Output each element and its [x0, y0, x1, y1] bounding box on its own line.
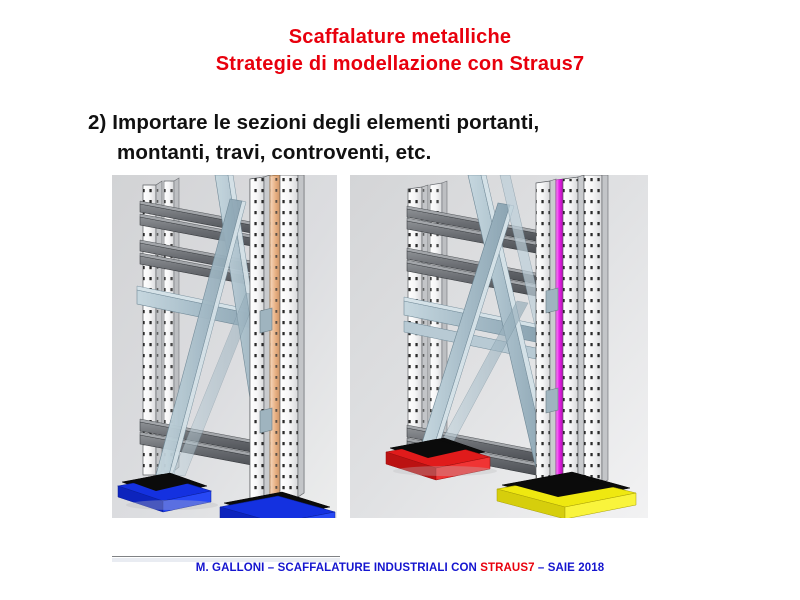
- bullet-line-2: montanti, travi, controventi, etc.: [88, 138, 688, 168]
- bullet-line-1: 2) Importare le sezioni degli elementi p…: [88, 108, 688, 138]
- left-figure: [112, 175, 337, 518]
- footer-part-3: – SAIE 2018: [535, 562, 605, 574]
- footer-part-straus7: STRAUS7: [480, 562, 534, 574]
- scaffold-assembly-right: [386, 175, 636, 518]
- title-line-2: Strategie di modellazione con Straus7: [0, 51, 800, 78]
- footer-divider: [112, 556, 340, 557]
- slide-title: Scaffalature metalliche Strategie di mod…: [0, 24, 800, 78]
- footer-credit: M. GALLONI – SCAFFALATURE INDUSTRIALI CO…: [0, 562, 800, 574]
- title-line-1: Scaffalature metalliche: [0, 24, 800, 51]
- right-figure-render: [350, 175, 648, 518]
- slide-canvas: Scaffalature metalliche Strategie di mod…: [0, 0, 800, 600]
- bullet-text: 2) Importare le sezioni degli elementi p…: [88, 108, 688, 168]
- upright-highlight-magenta: [556, 179, 563, 492]
- upright-cluster-front-right: [536, 175, 608, 497]
- left-figure-render: [112, 175, 337, 518]
- footer-part-1: M. GALLONI – SCAFFALATURE INDUSTRIALI CO…: [196, 562, 480, 574]
- right-figure: [350, 175, 648, 518]
- upright-front-overlay: [250, 175, 304, 507]
